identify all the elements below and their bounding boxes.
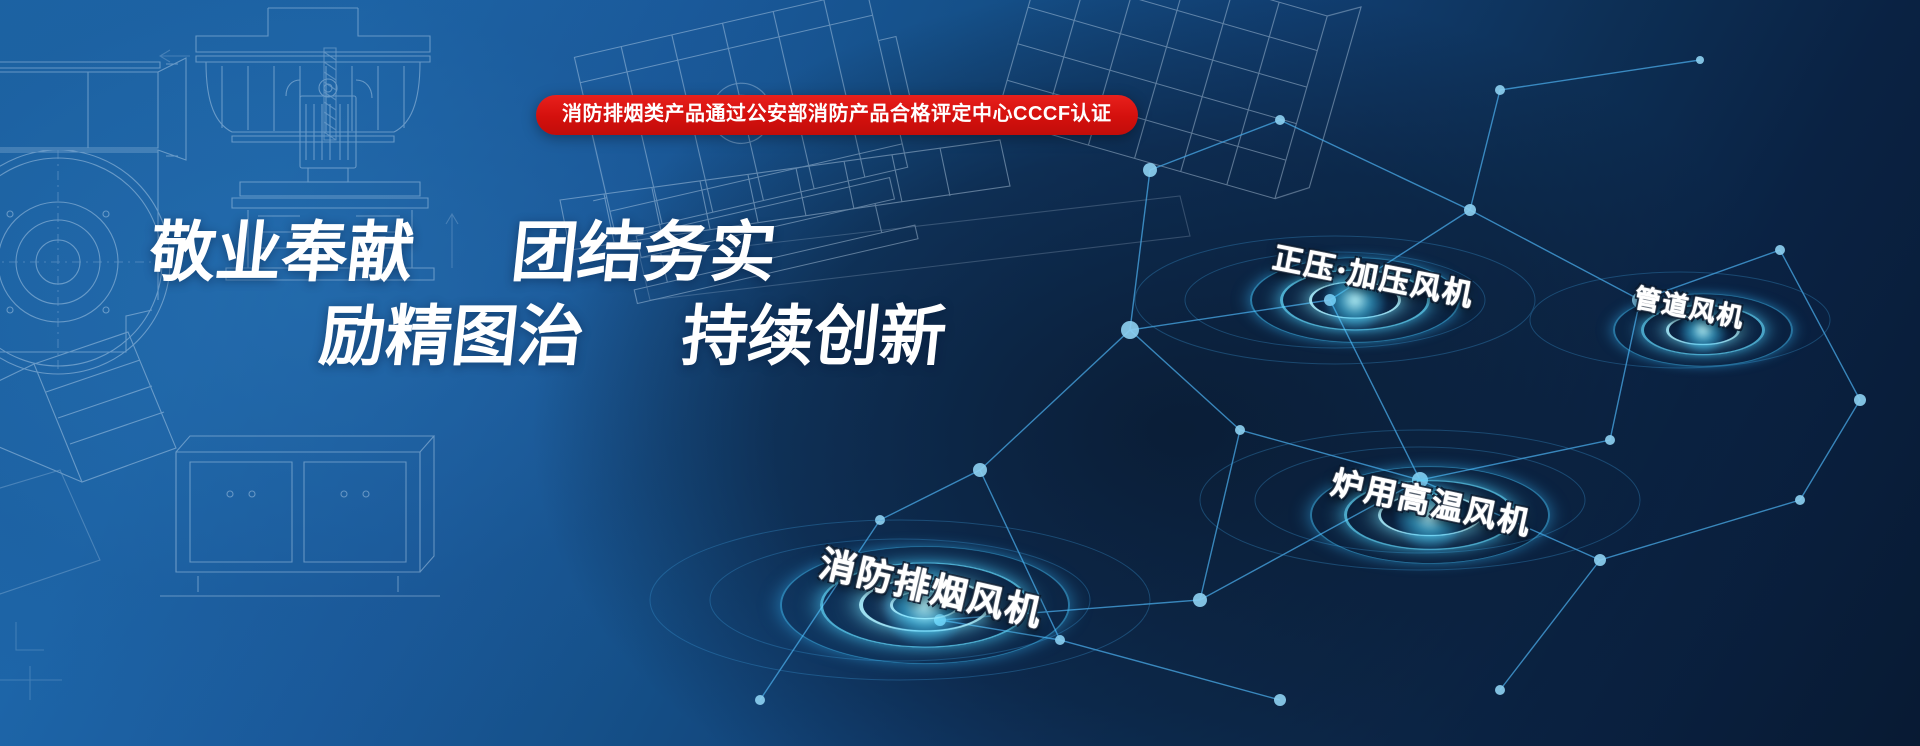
product-label-high-temperature-furnace-fan: 炉用高温风机	[1327, 457, 1536, 544]
slogan-line-1-part-2: 团结务实	[508, 213, 780, 291]
network-nodes	[755, 56, 1866, 706]
slogan-line-2-part-1: 励精图治	[316, 297, 588, 375]
hotspot-high-temperature-furnace-fan	[1290, 450, 1570, 580]
hero-banner: 正压·加压风机 管道风机 炉用高温风机 消防排烟风机 消防排烟类产品通过公安部消…	[0, 0, 1920, 746]
slogan-block: 敬业奉献 团结务实 励精图治 持续创新	[150, 210, 910, 379]
slogan-line-1: 敬业奉献 团结务实	[146, 210, 915, 294]
product-label-positive-pressure-fan: 正压·加压风机	[1270, 233, 1479, 315]
blueprint-bracket-marks	[0, 622, 62, 700]
blueprint-ahu-unit	[160, 436, 440, 596]
product-label-smoke-exhaust-fan: 消防排烟风机	[815, 535, 1049, 637]
hotspot-smoke-exhaust-fan	[760, 530, 1090, 680]
slogan-line-2-part-2: 持续创新	[678, 297, 950, 375]
certification-badge: 消防排烟类产品通过公安部消防产品合格评定中心CCCF认证	[536, 95, 1138, 135]
slogan-line-2: 励精图治 持续创新	[146, 294, 915, 378]
hotspot-positive-pressure-fan	[1230, 240, 1480, 360]
product-label-duct-fan: 管道风机	[1631, 278, 1748, 336]
blueprint-hatching	[324, 48, 336, 140]
network-links	[760, 60, 1860, 700]
slogan-line-1-part-1: 敬业奉献	[146, 213, 418, 291]
hotspot-duct-fan	[1598, 280, 1808, 380]
